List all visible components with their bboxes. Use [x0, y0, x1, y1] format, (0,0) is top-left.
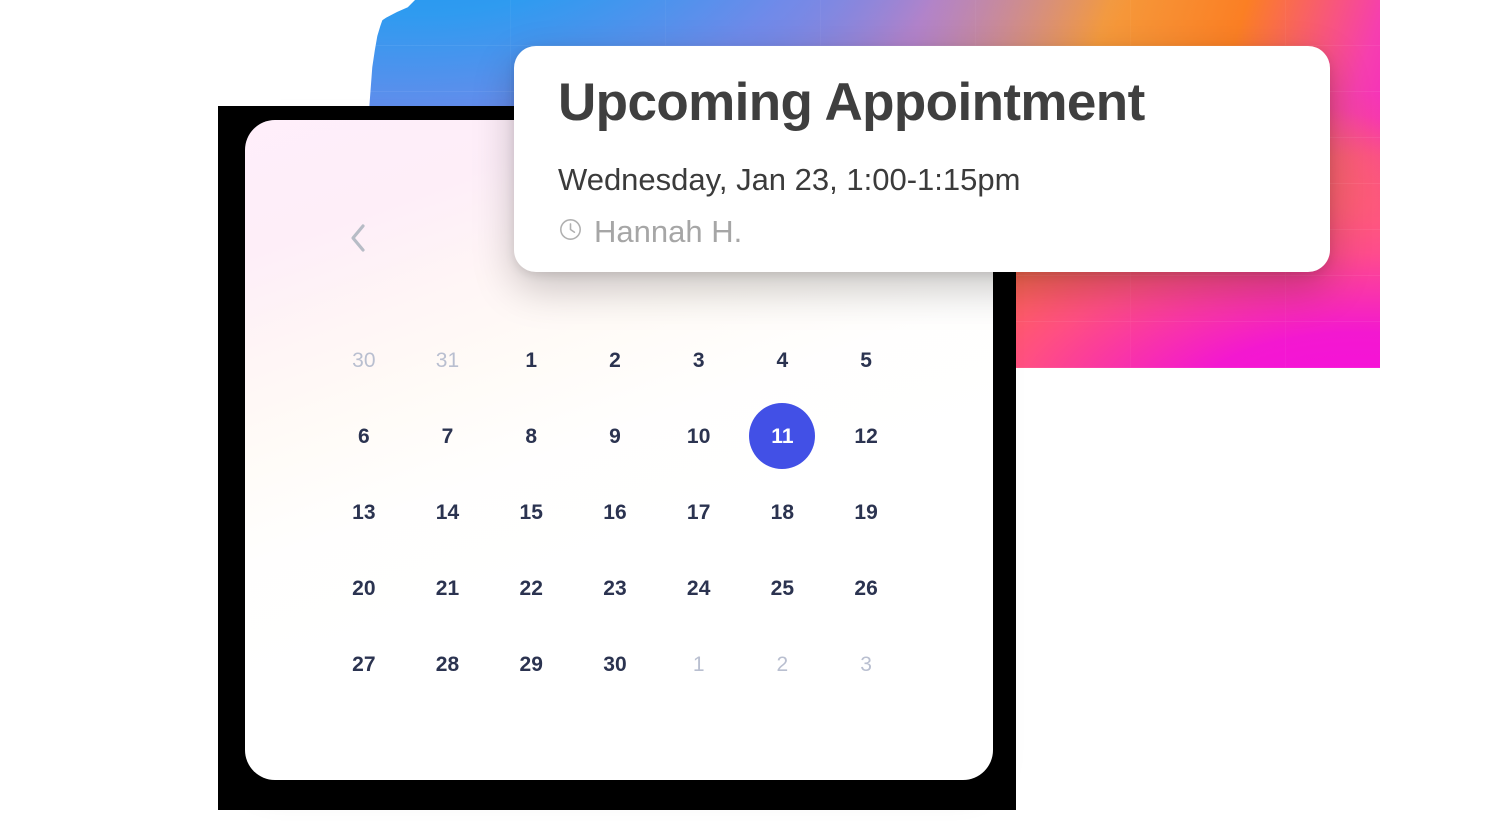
calendar-day-label: 2: [609, 350, 621, 371]
calendar-day-label: 26: [854, 578, 878, 599]
calendar-day-label: 17: [687, 502, 711, 523]
calendar-day-label: 19: [854, 502, 878, 523]
calendar-day-9[interactable]: 9: [573, 398, 657, 474]
calendar-day-label: 6: [358, 426, 370, 447]
calendar-day-1[interactable]: 1: [489, 322, 573, 398]
calendar-day-label: 1: [693, 654, 705, 675]
appointment-title: Upcoming Appointment: [558, 74, 1145, 132]
calendar-day-label: 7: [442, 426, 454, 447]
calendar-day-label: 12: [854, 426, 878, 447]
calendar-day-7[interactable]: 7: [406, 398, 490, 474]
calendar-day-3[interactable]: 3: [657, 322, 741, 398]
calendar-day-29[interactable]: 29: [489, 626, 573, 702]
calendar-day-label: 10: [687, 426, 711, 447]
calendar-day-label: 13: [352, 502, 376, 523]
calendar-day-label: 14: [436, 502, 460, 523]
calendar-day-label: 16: [603, 502, 627, 523]
calendar-day-14[interactable]: 14: [406, 474, 490, 550]
calendar-day-15[interactable]: 15: [489, 474, 573, 550]
calendar-day-label: 11: [771, 426, 793, 447]
calendar-day-6[interactable]: 6: [322, 398, 406, 474]
calendar-day-label: 25: [771, 578, 795, 599]
calendar-day-26[interactable]: 26: [824, 550, 908, 626]
calendar-day-label: 15: [520, 502, 544, 523]
appointment-datetime: Wednesday, Jan 23, 1:00-1:15pm: [558, 162, 1020, 198]
calendar-day-8[interactable]: 8: [489, 398, 573, 474]
calendar-day-27[interactable]: 27: [322, 626, 406, 702]
calendar-day-21[interactable]: 21: [406, 550, 490, 626]
appointment-host: Hannah H.: [558, 214, 742, 250]
composition-stage: 3031123456789101112131415161718192021222…: [0, 0, 1493, 840]
calendar-day-label: 1: [525, 350, 537, 371]
calendar-day-28[interactable]: 28: [406, 626, 490, 702]
calendar-day-label: 4: [777, 350, 789, 371]
calendar-day-17[interactable]: 17: [657, 474, 741, 550]
calendar-day-label: 28: [436, 654, 460, 675]
calendar-day-label: 24: [687, 578, 711, 599]
calendar-day-label: 8: [525, 426, 537, 447]
calendar-day-label: 31: [436, 350, 460, 371]
calendar-day-20[interactable]: 20: [322, 550, 406, 626]
calendar-day-label: 21: [436, 578, 460, 599]
calendar-day-3[interactable]: 3: [824, 626, 908, 702]
calendar-day-30[interactable]: 30: [322, 322, 406, 398]
calendar-day-2[interactable]: 2: [741, 626, 825, 702]
calendar-day-label: 3: [860, 654, 872, 675]
appointment-host-name: Hannah H.: [594, 214, 742, 250]
calendar-day-5[interactable]: 5: [824, 322, 908, 398]
calendar-day-4[interactable]: 4: [741, 322, 825, 398]
calendar-day-30[interactable]: 30: [573, 626, 657, 702]
calendar-day-2[interactable]: 2: [573, 322, 657, 398]
calendar-day-22[interactable]: 22: [489, 550, 573, 626]
calendar-day-12[interactable]: 12: [824, 398, 908, 474]
calendar-day-label: 27: [352, 654, 376, 675]
calendar-day-19[interactable]: 19: [824, 474, 908, 550]
calendar-day-label: 29: [520, 654, 544, 675]
calendar-day-label: 2: [777, 654, 789, 675]
calendar-day-24[interactable]: 24: [657, 550, 741, 626]
calendar-day-label: 3: [693, 350, 705, 371]
calendar-day-18[interactable]: 18: [741, 474, 825, 550]
calendar-day-label: 5: [860, 350, 872, 371]
calendar-prev-month-button[interactable]: [336, 216, 380, 260]
calendar-day-16[interactable]: 16: [573, 474, 657, 550]
chevron-left-icon: [348, 223, 368, 253]
calendar-day-25[interactable]: 25: [741, 550, 825, 626]
calendar-day-label: 30: [352, 350, 376, 371]
calendar-day-label: 9: [609, 426, 621, 447]
calendar-day-11[interactable]: 11: [741, 398, 825, 474]
calendar-day-label: 30: [603, 654, 627, 675]
calendar-day-label: 20: [352, 578, 376, 599]
calendar-day-label: 23: [603, 578, 627, 599]
calendar-day-23[interactable]: 23: [573, 550, 657, 626]
calendar-day-10[interactable]: 10: [657, 398, 741, 474]
clock-icon: [558, 217, 583, 247]
calendar-date-grid: 3031123456789101112131415161718192021222…: [322, 322, 908, 702]
calendar-day-label: 22: [520, 578, 544, 599]
calendar-day-13[interactable]: 13: [322, 474, 406, 550]
calendar-day-1[interactable]: 1: [657, 626, 741, 702]
appointment-card: Upcoming Appointment Wednesday, Jan 23, …: [514, 46, 1330, 272]
calendar-day-label: 18: [771, 502, 795, 523]
calendar-day-31[interactable]: 31: [406, 322, 490, 398]
